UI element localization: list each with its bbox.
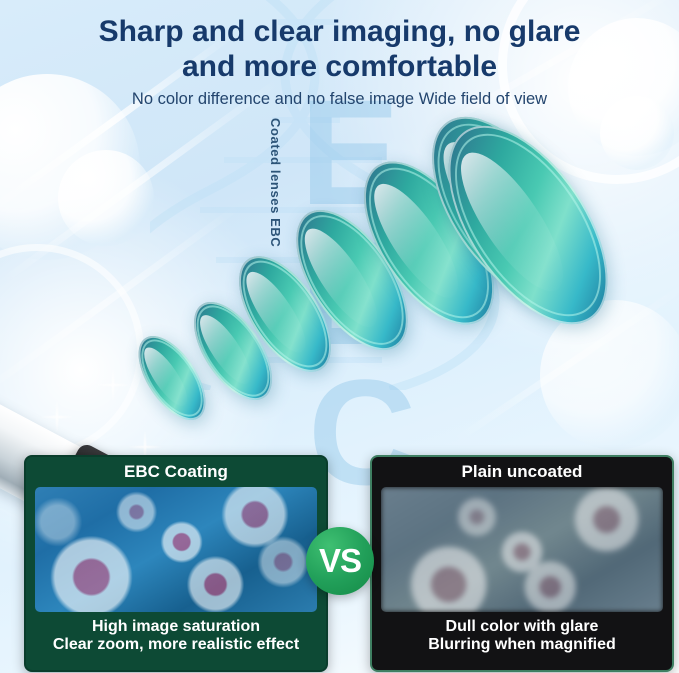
panel-ebc-coating: EBC Coating High image saturation Clear …	[24, 455, 328, 672]
panel-right-header: Plain uncoated	[372, 457, 672, 487]
panel-left-caption-line-2: Clear zoom, more realistic effect	[53, 636, 299, 653]
panel-left-header: EBC Coating	[26, 457, 326, 487]
panel-left-caption: High image saturation Clear zoom, more r…	[26, 612, 326, 654]
panel-right-caption: Dull color with glare Blurring when magn…	[372, 612, 672, 654]
title-line-1: Sharp and clear imaging, no glare	[99, 15, 581, 48]
panel-left-image	[35, 487, 317, 612]
title-line-2: and more comfortable	[182, 50, 497, 83]
blurred-microscopy-image	[381, 487, 663, 612]
panel-left-caption-line-1: High image saturation	[92, 618, 260, 635]
product-feature-graphic: E B C Sharp and clear imaging, no glare …	[0, 0, 679, 673]
page-title: Sharp and clear imaging, no glare and mo…	[0, 14, 679, 85]
headline-block: Sharp and clear imaging, no glare and mo…	[0, 14, 679, 109]
page-subtitle: No color difference and no false image W…	[0, 90, 679, 109]
light-streak	[0, 79, 279, 285]
panel-right-caption-line-1: Dull color with glare	[446, 618, 599, 635]
coated-lenses-label: Coated lenses EBC	[268, 118, 283, 247]
vs-badge: VS	[306, 527, 374, 595]
comparison-section: EBC Coating High image saturation Clear …	[0, 455, 679, 673]
sharp-microscopy-image	[35, 487, 317, 612]
panel-plain-uncoated: Plain uncoated Dull color with glare Blu…	[370, 455, 674, 672]
sparkle-icon	[96, 368, 130, 402]
panel-right-caption-line-2: Blurring when magnified	[428, 636, 616, 653]
panel-right-image	[381, 487, 663, 612]
molecule-bubble-icon	[58, 150, 154, 246]
